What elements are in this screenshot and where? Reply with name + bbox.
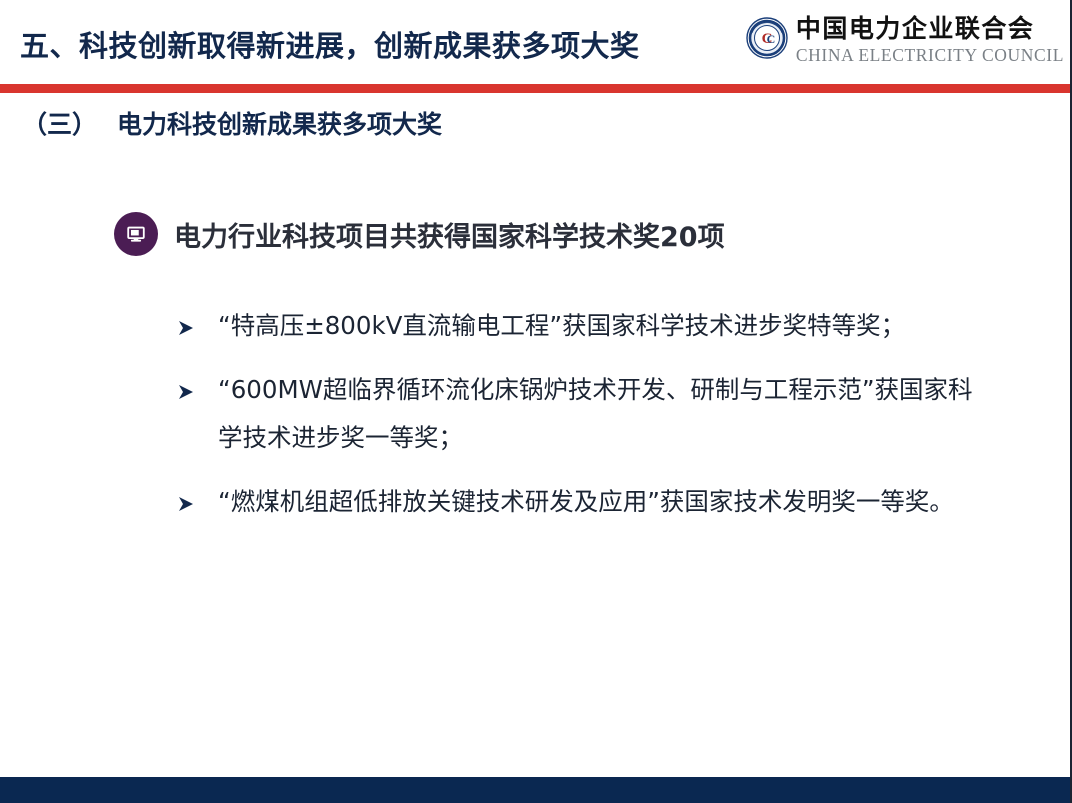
- list-item: “特高压±800kV直流输电工程”获国家科学技术进步奖特等奖；: [176, 302, 996, 350]
- subtitle-number: （三）: [22, 110, 97, 139]
- arrow-bullet-icon: [176, 302, 218, 338]
- header-red-divider: [0, 84, 1072, 93]
- slide: 五、科技创新取得新进展，创新成果获多项大奖 C C 中国电力企业联合会 CHIN…: [0, 0, 1072, 803]
- arrow-bullet-icon: [176, 478, 218, 514]
- arrow-bullet-icon: [176, 366, 218, 402]
- page-title: 五、科技创新取得新进展，创新成果获多项大奖: [20, 23, 640, 65]
- list-item: “燃煤机组超低排放关键技术研发及应用”获国家技术发明奖一等奖。: [176, 478, 996, 526]
- logo-name-cn: 中国电力企业联合会: [796, 16, 1035, 41]
- section-heading-text: 电力行业科技项目共获得国家科学技术奖20项: [174, 215, 725, 254]
- list-item: “600MW超临界循环流化床锅炉技术开发、研制与工程示范”获国家科学技术进步奖一…: [176, 366, 996, 462]
- svg-text:C: C: [767, 32, 776, 46]
- bullet-list: “特高压±800kV直流输电工程”获国家科学技术进步奖特等奖； “600MW超临…: [176, 302, 996, 542]
- cec-seal-icon: C C: [746, 17, 788, 59]
- subtitle-text: 电力科技创新成果获多项大奖: [117, 110, 442, 139]
- slide-header: 五、科技创新取得新进展，创新成果获多项大奖 C C 中国电力企业联合会 CHIN…: [0, 0, 1072, 84]
- logo-text-block: 中国电力企业联合会 CHINA ELECTRICITY COUNCIL: [796, 16, 1064, 65]
- section-subtitle: （三）电力科技创新成果获多项大奖: [22, 105, 442, 141]
- list-item-text: “特高压±800kV直流输电工程”获国家科学技术进步奖特等奖；: [218, 302, 996, 350]
- section-heading: 电力行业科技项目共获得国家科学技术奖20项: [114, 212, 725, 256]
- organization-logo: C C 中国电力企业联合会 CHINA ELECTRICITY COUNCIL: [746, 16, 1064, 65]
- list-item-text: “燃煤机组超低排放关键技术研发及应用”获国家技术发明奖一等奖。: [218, 478, 996, 526]
- list-item-text: “600MW超临界循环流化床锅炉技术开发、研制与工程示范”获国家科学技术进步奖一…: [218, 366, 996, 462]
- logo-name-en: CHINA ELECTRICITY COUNCIL: [796, 47, 1064, 65]
- footer-bar: [0, 777, 1072, 803]
- monitor-icon: [114, 212, 158, 256]
